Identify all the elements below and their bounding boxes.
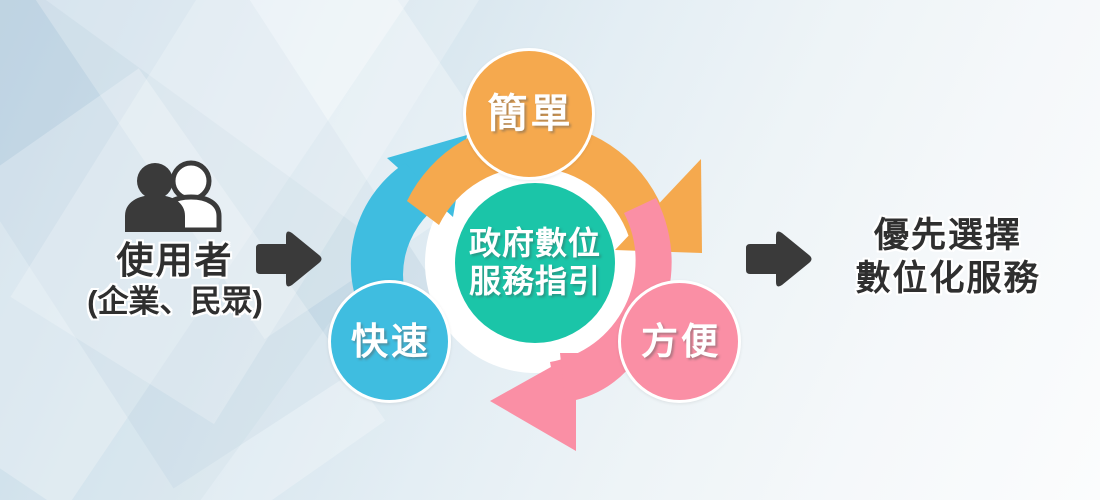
cycle-node-fast[interactable]: 快速 — [328, 280, 451, 403]
cycle-node-convenient-label: 方便 — [638, 323, 721, 360]
cycle-node-simple[interactable]: 簡單 — [463, 48, 595, 180]
hub-line-1: 政府數位 — [469, 225, 601, 263]
cycle-hub: 政府數位 服務指引 — [455, 183, 615, 343]
outcome-stage: 優先選擇 數位化服務 — [818, 215, 1078, 300]
flow-arrow-right-icon — [742, 228, 814, 290]
cycle-node-simple-label: 簡單 — [485, 94, 574, 134]
cycle-node-fast-label: 快速 — [348, 323, 431, 360]
hub-line-2: 服務指引 — [469, 263, 601, 301]
infographic-canvas: 使用者 (企業、民眾) — [0, 0, 1100, 500]
service-cycle-diagram: 政府數位 服務指引 簡單 方便 快速 — [310, 35, 780, 480]
outcome-line-1: 優先選擇 — [818, 215, 1078, 258]
outcome-line-2: 數位化服務 — [818, 258, 1078, 301]
two-people-icon — [119, 160, 231, 232]
cycle-node-convenient[interactable]: 方便 — [618, 280, 741, 403]
